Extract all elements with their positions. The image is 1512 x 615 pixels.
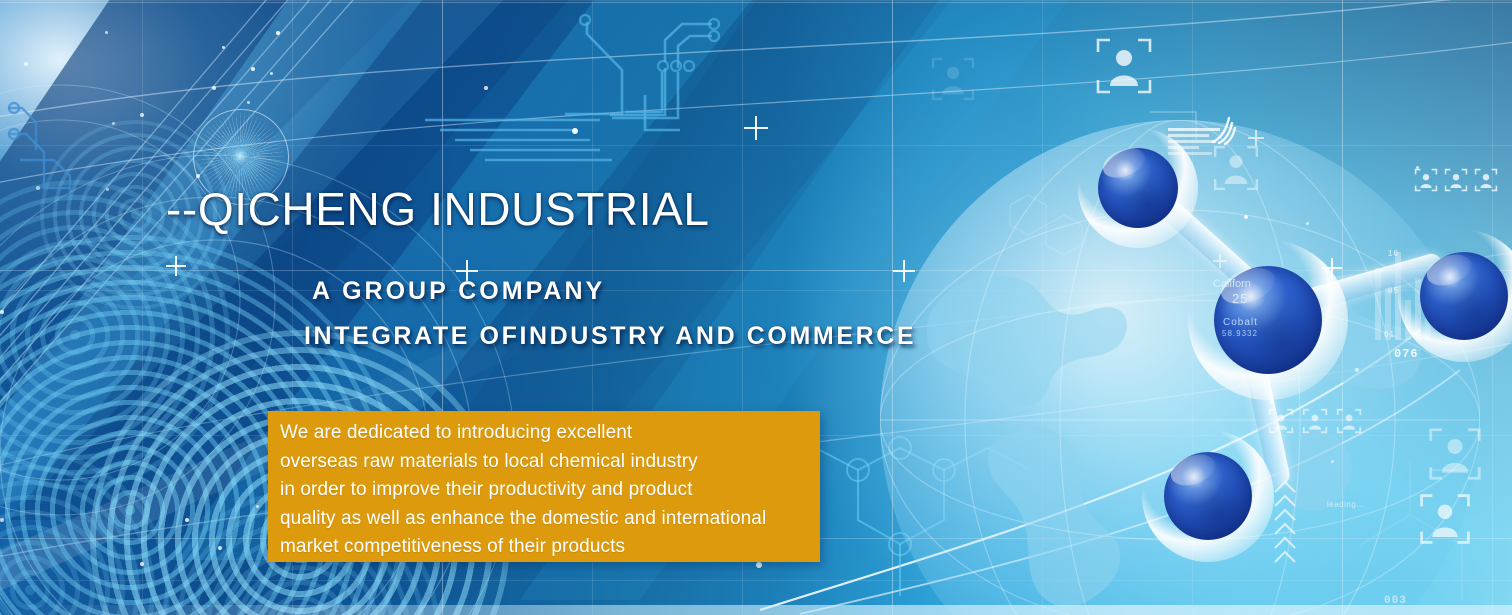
atom-sphere	[1078, 128, 1198, 248]
hero-banner: 10 05 01 Californ	[0, 0, 1512, 615]
bottom-light-strip	[0, 605, 1512, 615]
promo-line: overseas raw materials to local chemical…	[280, 448, 814, 477]
promo-line: market competitiveness of their products	[280, 533, 814, 562]
atom-sphere-main	[1188, 240, 1348, 400]
element-label-cobalt: Cobalt	[1223, 317, 1258, 328]
person-in-frame-icon	[1212, 144, 1260, 192]
promo-text: We are dedicated to introducing excellen…	[280, 419, 814, 562]
chevron-arrows	[1272, 478, 1298, 573]
page-title: --QICHENG INDUSTRIAL	[166, 182, 710, 236]
promo-callout-box: We are dedicated to introducing excellen…	[268, 411, 820, 562]
element-number-25: 25	[1232, 291, 1248, 306]
person-icon-group	[1414, 168, 1498, 192]
code-076: 076	[1394, 347, 1419, 361]
status-leading-text: leading...	[1327, 500, 1364, 509]
person-in-frame-icon	[1418, 492, 1472, 546]
subtitle-line-1: A GROUP COMPANY	[312, 277, 605, 306]
promo-line: in order to improve their productivity a…	[280, 476, 814, 505]
person-in-frame-icon	[1094, 36, 1154, 96]
subtitle-line-2: INTEGRATE OFINDUSTRY AND COMMERCE	[304, 322, 916, 351]
element-weight-cobalt: 58.9332	[1222, 329, 1258, 338]
person-icon-group	[1268, 408, 1362, 434]
atom-sphere	[1142, 430, 1274, 562]
element-label-californ: Californ	[1213, 278, 1251, 290]
person-in-frame-icon	[1427, 426, 1483, 482]
atom-sphere	[1398, 230, 1512, 362]
promo-line: quality as well as enhance the domestic …	[280, 505, 814, 534]
person-in-frame-icon	[930, 56, 976, 102]
promo-line: We are dedicated to introducing excellen…	[280, 419, 814, 448]
